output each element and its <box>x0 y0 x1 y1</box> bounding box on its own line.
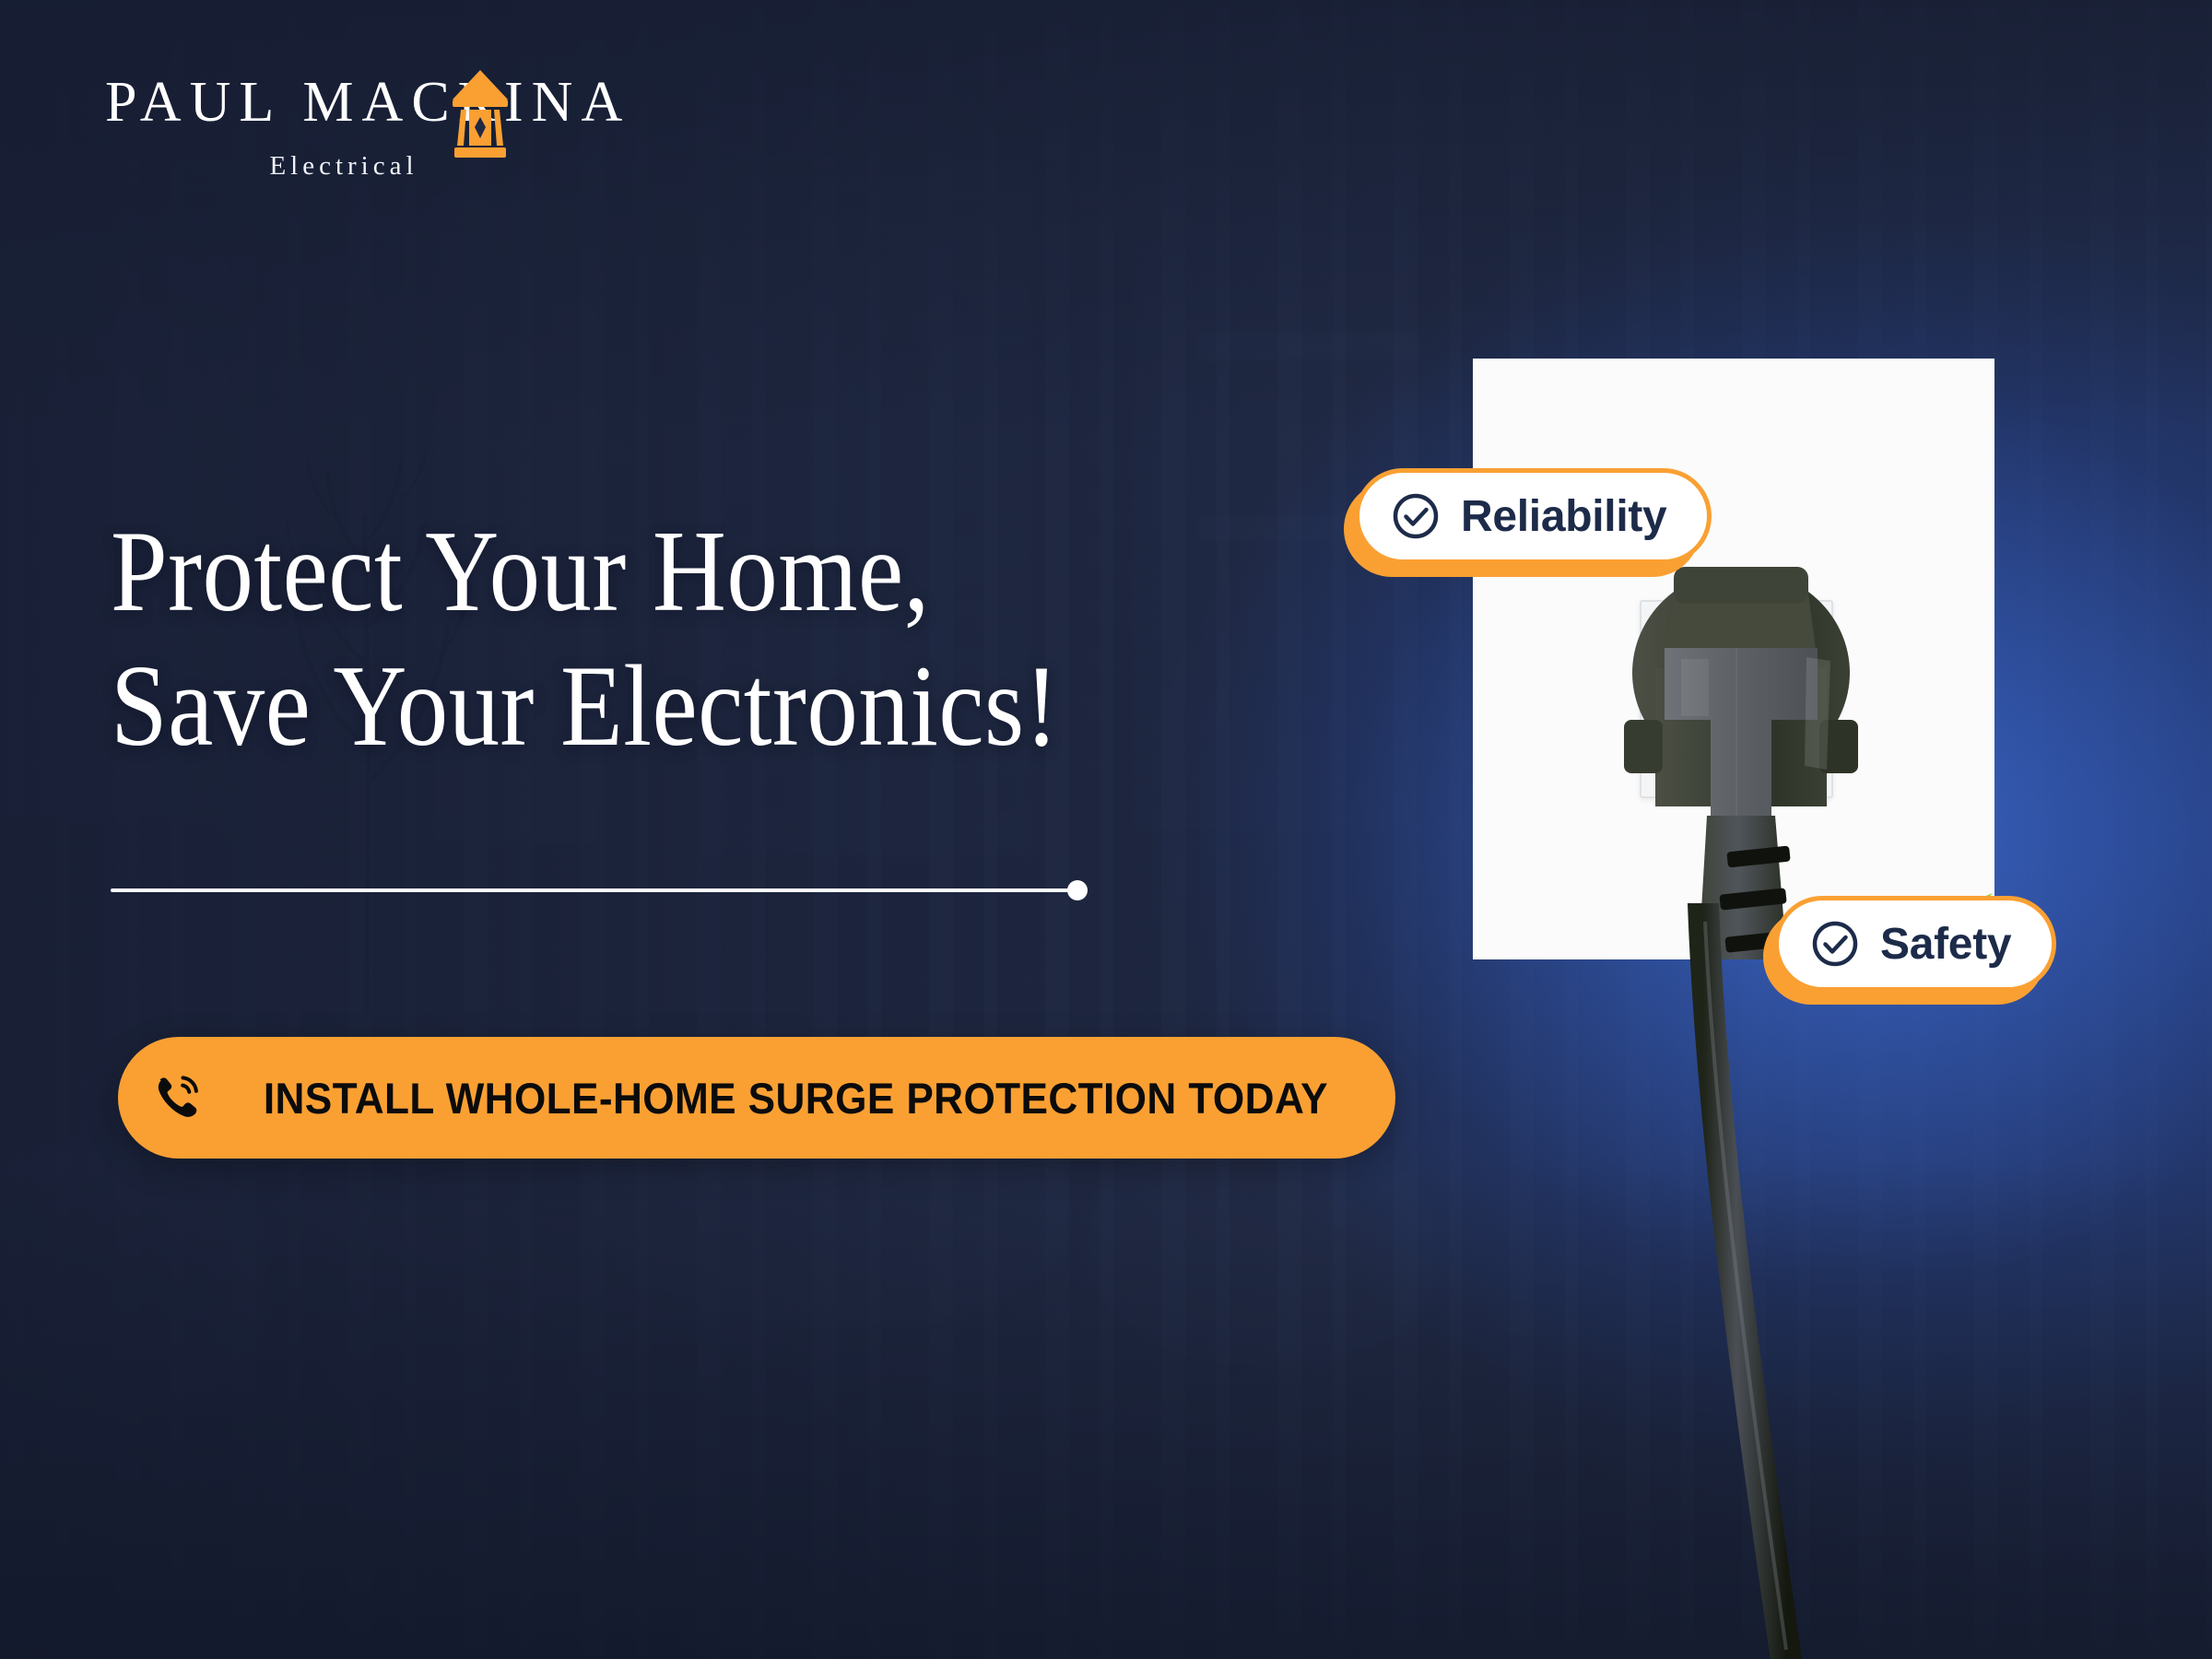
check-circle-icon <box>1391 491 1441 541</box>
brand-name: PAUL MACRINA <box>100 74 588 131</box>
headline-line-2: Save Your Electronics! <box>111 640 1263 774</box>
headline-line-1: Protect Your Home, <box>111 505 1263 640</box>
cta-button[interactable]: INSTALL WHOLE-HOME SURGE PROTECTION TODA… <box>118 1037 1395 1159</box>
lantern-icon <box>447 66 513 162</box>
phone-ringing-icon <box>152 1072 204 1124</box>
brand-tagline: Electrical <box>100 151 588 182</box>
badge-safety-label: Safety <box>1880 919 2011 970</box>
page-title: Protect Your Home, Save Your Electronics… <box>111 505 1419 774</box>
product-photo-card <box>1473 359 1994 959</box>
divider-dot <box>1067 880 1088 900</box>
cta-label: INSTALL WHOLE-HOME SURGE PROTECTION TODA… <box>263 1073 1327 1124</box>
divider-line <box>111 888 1069 892</box>
badge-safety[interactable]: Safety <box>1774 896 2056 992</box>
badge-reliability[interactable]: Reliability <box>1355 468 1712 564</box>
promotional-banner: PAUL MACRINA Electrical Protect Your Hom… <box>0 0 2212 1659</box>
divider <box>111 880 1088 900</box>
check-circle-icon <box>1810 919 1860 969</box>
brand-logo[interactable]: PAUL MACRINA Electrical <box>100 74 588 182</box>
badge-reliability-label: Reliability <box>1461 491 1666 542</box>
